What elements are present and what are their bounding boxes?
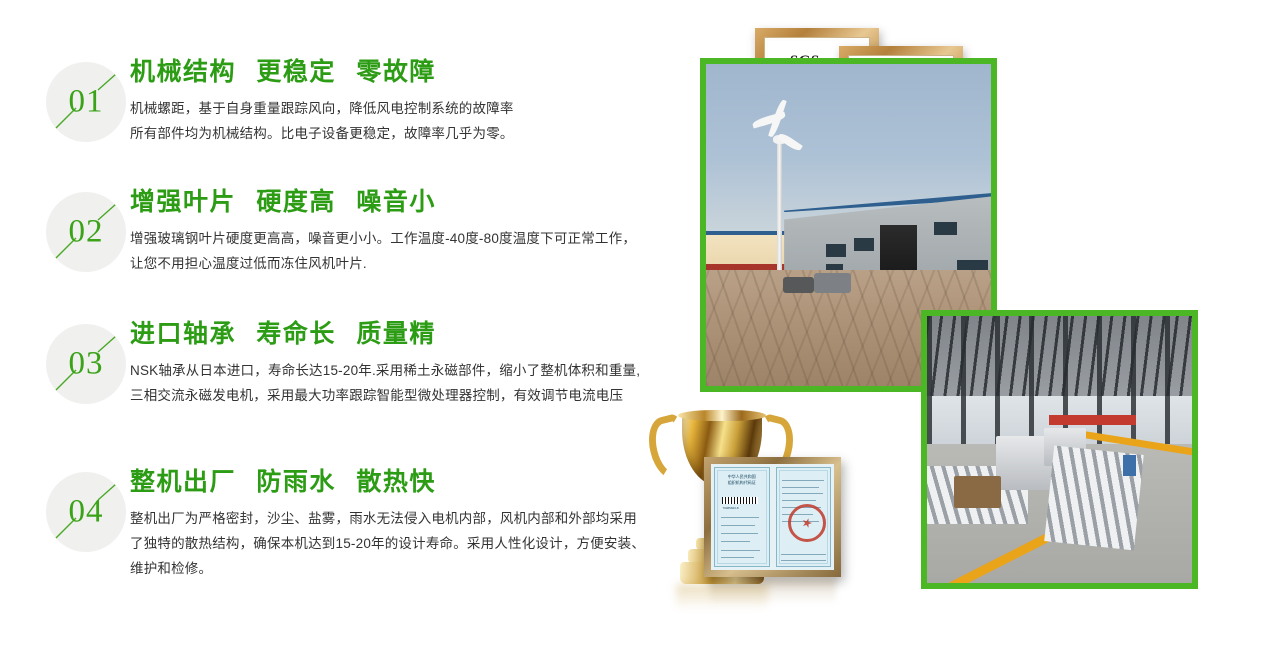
certificate-frame-business-licence: 中华人民共和国 组织机构代码证 79465923-8 [704,457,841,577]
feature-number-badge-04: 04 [46,472,126,552]
feature-body-04: 整机出厂为严格密封，沙尘、盐雾，雨水无法侵入电机内部，风机内部和外部均采用 了独… [130,506,696,581]
blue-stool [1123,455,1136,476]
trophy-rim [678,410,766,421]
feature-text-04: 整机出厂 防雨水 散热快 整机出厂为严格密封，沙尘、盐雾，雨水无法侵入电机内部，… [130,468,696,581]
feature-body-line: 增强玻璃钢叶片硬度更高高，噪音更小小。工作温度-40度-80度温度下可正常工作， [130,226,696,251]
feature-number-badge-01: 01 [46,62,126,142]
licence-title-line1: 中华人民共和国 [728,474,756,479]
feature-body-line: NSK轴承从日本进口，寿命长达15-20年.采用稀土永磁部件，缩小了整机体积和重… [130,358,696,383]
feature-number-03: 03 [46,348,126,381]
feature-body-line: 整机出厂为严格密封，沙尘、盐雾，雨水无法侵入电机内部，风机内部和外部均采用 [130,506,696,531]
licence-barcode [722,497,757,504]
feature-body-line: 了独特的散热结构，确保本机达到15-20年的设计寿命。采用人性化设计，方便安装、 [130,531,696,556]
feature-item-03: 03 进口轴承 寿命长 质量精 NSK轴承从日本进口，寿命长达15-20年.采用… [46,320,696,408]
feature-number-04: 04 [46,496,126,529]
feature-item-04: 04 整机出厂 防雨水 散热快 整机出厂为严格密封，沙尘、盐雾，雨水无法侵入电机… [46,468,696,581]
feature-text-01: 机械结构 更稳定 零故障 机械螺距，基于自身重量跟踪风向，降低风电控制系统的故障… [130,58,696,146]
feature-number-badge-02: 02 [46,192,126,272]
feature-body-line: 让您不用担心温度过低而冻住风机叶片. [130,251,696,276]
feature-body-03: NSK轴承从日本进口，寿命长达15-20年.采用稀土永磁部件，缩小了整机体积和重… [130,358,696,408]
feature-item-02: 02 增强叶片 硬度高 噪音小 增强玻璃钢叶片硬度更高高，噪音更小小。工作温度-… [46,188,696,276]
feature-text-02: 增强叶片 硬度高 噪音小 增强玻璃钢叶片硬度更高高，噪音更小小。工作温度-40度… [130,188,696,276]
licence-reflection [710,578,836,604]
parked-van [814,273,851,292]
feature-number-01: 01 [46,86,126,119]
feature-heading-04: 整机出厂 防雨水 散热快 [130,468,696,496]
feature-heading-02: 增强叶片 硬度高 噪音小 [130,188,696,216]
feature-body-line: 三相交流永磁发电机，采用最大功率跟踪智能型微处理器控制，有效调节电流电压 [130,383,696,408]
image-collage: SGS Test Report No. SHAQY-12345678-1 E.d… [620,0,1280,654]
feature-body-line: 所有部件均为机械结构。比电子设备更稳定，故障率几乎为零。 [130,121,696,146]
feature-list: 01 机械结构 更稳定 零故障 机械螺距，基于自身重量跟踪风向，降低风电控制系统… [0,0,700,654]
licence-code: 79465923-8 [722,506,738,510]
licence-title-line2: 组织机构代码证 [728,480,756,485]
licence-page-left: 中华人民共和国 组织机构代码证 79465923-8 [714,467,770,567]
official-red-seal [788,504,826,542]
licence-spread: 中华人民共和国 组织机构代码证 79465923-8 [711,464,834,570]
feature-heading-01: 机械结构 更稳定 零故障 [130,58,696,86]
feature-item-01: 01 机械结构 更稳定 零故障 机械螺距，基于自身重量跟踪风向，降低风电控制系统… [46,58,696,146]
feature-body-01: 机械螺距，基于自身重量跟踪风向，降低风电控制系统的故障率 所有部件均为机械结构。… [130,96,696,146]
feature-body-line: 机械螺距，基于自身重量跟踪风向，降低风电控制系统的故障率 [130,96,696,121]
licence-title: 中华人民共和国 组织机构代码证 [715,474,769,486]
feature-number-badge-03: 03 [46,324,126,404]
warehouse-banner [1049,415,1136,426]
wooden-pallet [954,476,1002,508]
parked-truck [783,277,814,293]
photo-warehouse-interior [921,310,1198,589]
feature-body-02: 增强玻璃钢叶片硬度更高高，噪音更小小。工作温度-40度-80度温度下可正常工作，… [130,226,696,276]
feature-body-line: 维护和检修。 [130,556,696,581]
feature-text-03: 进口轴承 寿命长 质量精 NSK轴承从日本进口，寿命长达15-20年.采用稀土永… [130,320,696,408]
licence-page-right [776,467,832,567]
feature-number-02: 02 [46,216,126,249]
feature-heading-03: 进口轴承 寿命长 质量精 [130,320,696,348]
page-root: 01 机械结构 更稳定 零故障 机械螺距，基于自身重量跟踪风向，降低风电控制系统… [0,0,1280,654]
